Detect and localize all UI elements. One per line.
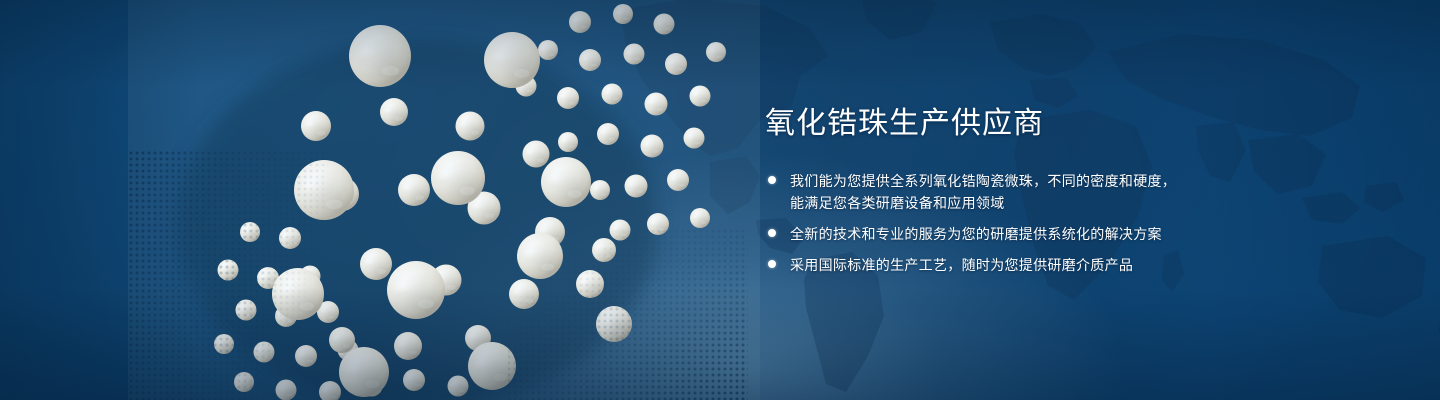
bullet-text-line1: 采用国际标准的生产工艺，随时为您提供研磨介质产品 [790, 254, 1405, 276]
banner-bullet-list: 我们能为您提供全系列氧化锆陶瓷微珠，不同的密度和硬度， 能满足您各类研磨设备和应… [765, 170, 1405, 276]
bullet-item: 采用国际标准的生产工艺，随时为您提供研磨介质产品 [765, 254, 1405, 276]
hero-banner: 氧化锆珠生产供应商 我们能为您提供全系列氧化锆陶瓷微珠，不同的密度和硬度， 能满… [0, 0, 1440, 400]
bullet-dot-icon [768, 176, 776, 184]
banner-headline: 氧化锆珠生产供应商 [765, 104, 1405, 144]
bullet-item: 我们能为您提供全系列氧化锆陶瓷微珠，不同的密度和硬度， 能满足您各类研磨设备和应… [765, 170, 1405, 214]
bullet-item: 全新的技术和专业的服务为您的研磨提供系统化的解决方案 [765, 223, 1405, 245]
banner-text-block: 氧化锆珠生产供应商 我们能为您提供全系列氧化锆陶瓷微珠，不同的密度和硬度， 能满… [765, 104, 1405, 276]
bullet-text-line1: 全新的技术和专业的服务为您的研磨提供系统化的解决方案 [790, 223, 1405, 245]
bullet-dot-icon [768, 229, 776, 237]
bullet-text-line1: 我们能为您提供全系列氧化锆陶瓷微珠，不同的密度和硬度， [790, 170, 1405, 192]
bullet-dot-icon [768, 260, 776, 268]
bullet-text-line2: 能满足您各类研磨设备和应用领域 [790, 192, 1405, 214]
